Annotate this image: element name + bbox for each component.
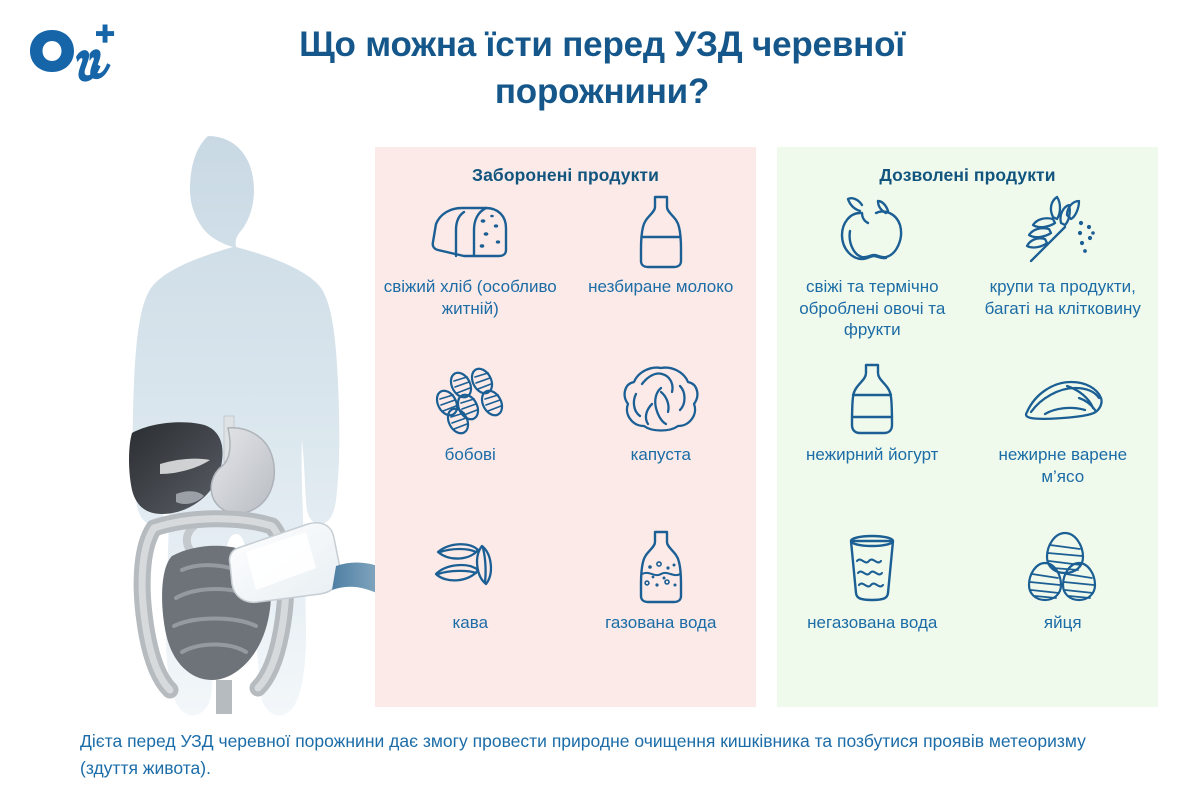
list-item[interactable]: крупи та продукти, багаті на клітковину — [968, 192, 1159, 360]
list-item[interactable]: яйця — [968, 528, 1159, 696]
coffee-beans-icon — [430, 528, 510, 606]
list-item[interactable]: негазована вода — [777, 528, 968, 696]
list-item[interactable]: газована вода — [566, 528, 757, 696]
list-item[interactable]: свіжі та термічно оброблені овочі та фру… — [777, 192, 968, 360]
allowed-items-grid: свіжі та термічно оброблені овочі та фру… — [777, 192, 1158, 696]
list-item[interactable]: бобові — [375, 360, 566, 528]
list-item-label: нежирний йогурт — [806, 444, 938, 466]
eggs-icon — [1027, 528, 1099, 606]
beans-icon — [430, 360, 510, 438]
list-item[interactable]: незбиране молоко — [566, 192, 757, 360]
list-item-label: незбиране молоко — [588, 276, 733, 298]
apples-icon — [832, 192, 912, 270]
bread-loaf-icon — [426, 192, 514, 270]
on-plus-logo[interactable] — [26, 16, 122, 86]
list-item-label: кава — [452, 612, 488, 634]
list-item-label: свіжий хліб (особливо житній) — [383, 276, 558, 319]
footer-note: Дієта перед УЗД черевної порожнини дає з… — [80, 728, 1140, 782]
forbidden-items-grid: свіжий хліб (особливо житній) незбиране … — [375, 192, 756, 696]
list-item-label: свіжі та термічно оброблені овочі та фру… — [785, 276, 960, 341]
list-item[interactable]: капуста — [566, 360, 757, 528]
yogurt-bottle-icon — [845, 360, 899, 438]
list-item[interactable]: нежирний йогурт — [777, 360, 968, 528]
list-item-label: нежирне варене м’ясо — [976, 444, 1151, 487]
sparkling-water-bottle-icon — [633, 528, 689, 606]
panel-forbidden-heading: Заборонені продукти — [375, 165, 756, 186]
list-item-label: газована вода — [605, 612, 716, 634]
list-item-label: капуста — [631, 444, 691, 466]
list-item-label: бобові — [445, 444, 496, 466]
list-item-label: негазована вода — [807, 612, 937, 634]
panel-allowed-products: Дозволені продукти свіжі та термічно обр… — [777, 147, 1158, 707]
milk-bottle-icon — [633, 192, 689, 270]
list-item[interactable]: свіжий хліб (особливо житній) — [375, 192, 566, 360]
list-item-label: крупи та продукти, багаті на клітковину — [976, 276, 1151, 319]
water-glass-icon — [843, 528, 901, 606]
list-item[interactable]: кава — [375, 528, 566, 696]
list-item[interactable]: нежирне варене м’ясо — [968, 360, 1159, 528]
boiled-meat-icon — [1021, 360, 1105, 438]
wheat-grain-icon — [1023, 192, 1103, 270]
infographic-page: Що можна їсти перед УЗД черевної порожни… — [0, 0, 1200, 800]
page-title: Що можна їсти перед УЗД черевної порожни… — [230, 22, 974, 115]
panel-forbidden-products: Заборонені продукти св — [375, 147, 756, 707]
cabbage-icon — [622, 360, 700, 438]
list-item-label: яйця — [1044, 612, 1082, 634]
panel-allowed-heading: Дозволені продукти — [777, 165, 1158, 186]
